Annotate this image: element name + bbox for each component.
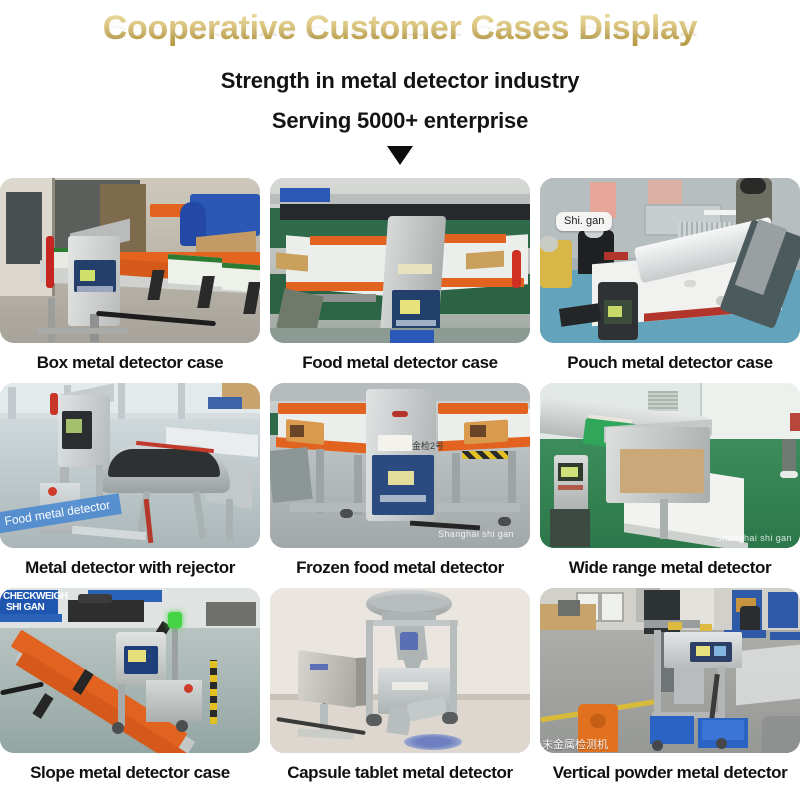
- page-title: Cooperative Customer Cases Display: [0, 6, 800, 50]
- case-thumbnail[interactable]: [270, 178, 530, 343]
- case-thumbnail[interactable]: Shanghai shi gan: [540, 383, 800, 548]
- case-card[interactable]: Food metal detector Metal detector with …: [0, 383, 260, 588]
- page-header: Cooperative Customer Cases Display Coope…: [0, 0, 800, 165]
- cases-grid: Box metal detector case Food metal detec…: [0, 178, 800, 793]
- case-card[interactable]: Capsule tablet metal detector: [270, 588, 530, 793]
- background-sign-line-1: CHECKWEIGH: [3, 591, 67, 602]
- machine-label-cn: 金检2号: [412, 439, 444, 452]
- cases-display-page: Cooperative Customer Cases Display Coope…: [0, 0, 800, 800]
- case-thumbnail[interactable]: 金检2号 Shanghai shi gan: [270, 383, 530, 548]
- case-thumbnail[interactable]: [0, 178, 260, 343]
- case-thumbnail[interactable]: [270, 588, 530, 753]
- case-caption: Metal detector with rejector: [0, 548, 260, 588]
- watermark-shi-gan: Shi. gan: [556, 212, 612, 231]
- case-card[interactable]: Shi. gan Pouch metal detector case: [540, 178, 800, 383]
- case-thumbnail[interactable]: Food metal detector: [0, 383, 260, 548]
- watermark-shanghai-shi-gan: Shanghai shi gan: [438, 529, 514, 539]
- subtitle-strength: Strength in metal detector industry: [0, 64, 800, 98]
- case-caption: Box metal detector case: [0, 343, 260, 383]
- case-caption: Food metal detector case: [270, 343, 530, 383]
- case-card[interactable]: Food metal detector case: [270, 178, 530, 383]
- case-thumbnail[interactable]: 末金属检测机: [540, 588, 800, 753]
- triangle-down-icon: [387, 146, 413, 165]
- case-card[interactable]: Shanghai shi gan Wide range metal detect…: [540, 383, 800, 588]
- subtitle-serving: Serving 5000+ enterprise: [0, 104, 800, 138]
- case-card[interactable]: 末金属检测机 Vertical powder metal detector: [540, 588, 800, 793]
- case-card[interactable]: Box metal detector case: [0, 178, 260, 383]
- watermark-powder-metal-detector-cn: 末金属检测机: [542, 736, 608, 752]
- case-thumbnail[interactable]: Shi. gan: [540, 178, 800, 343]
- case-caption: Slope metal detector case: [0, 753, 260, 793]
- case-caption: Wide range metal detector: [540, 548, 800, 588]
- case-card[interactable]: 金检2号 Shanghai shi gan Frozen food metal …: [270, 383, 530, 588]
- case-thumbnail[interactable]: CHECKWEIGH SHI GAN: [0, 588, 260, 753]
- case-caption: Frozen food metal detector: [270, 548, 530, 588]
- watermark-shanghai-shi-gan: Shanghai shi gan: [716, 533, 792, 543]
- case-caption: Pouch metal detector case: [540, 343, 800, 383]
- case-caption: Vertical powder metal detector: [540, 753, 800, 793]
- case-caption: Capsule tablet metal detector: [270, 753, 530, 793]
- case-card[interactable]: CHECKWEIGH SHI GAN Slope metal detector …: [0, 588, 260, 793]
- background-sign-line-2: SHI GAN: [6, 602, 44, 613]
